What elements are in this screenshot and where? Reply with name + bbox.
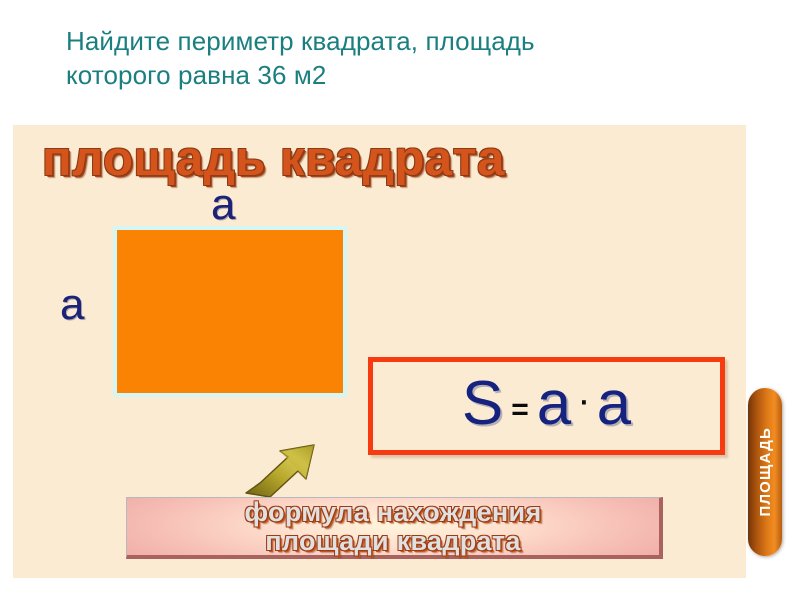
square-side-label-left: a xyxy=(60,283,84,327)
side-tab-label: ПЛОЩАДЬ xyxy=(757,427,774,517)
arrow-up-right-icon xyxy=(244,443,318,499)
formula-symbol-s: S xyxy=(462,373,503,435)
caption-text: формула нахождения площади квадрата xyxy=(244,498,541,555)
square-side-label-top: a xyxy=(211,183,235,227)
wordart-heading: площадь квадрата xyxy=(42,131,742,187)
formula-box: S = a · a xyxy=(368,357,725,455)
caption-plate: формула нахождения площади квадрата xyxy=(126,497,663,559)
formula-operand-right: a xyxy=(597,373,631,435)
side-tab-ploshchad[interactable]: ПЛОЩАДЬ xyxy=(748,388,782,556)
formula-operand-left: a xyxy=(537,373,571,435)
page-title: Найдите периметр квадрата, площадь котор… xyxy=(66,24,766,93)
formula-equals-sign: = xyxy=(507,395,533,425)
formula-multiply-operator: · xyxy=(575,380,592,420)
orange-square-shape xyxy=(113,226,347,397)
formula-expression: S = a · a xyxy=(462,373,631,435)
